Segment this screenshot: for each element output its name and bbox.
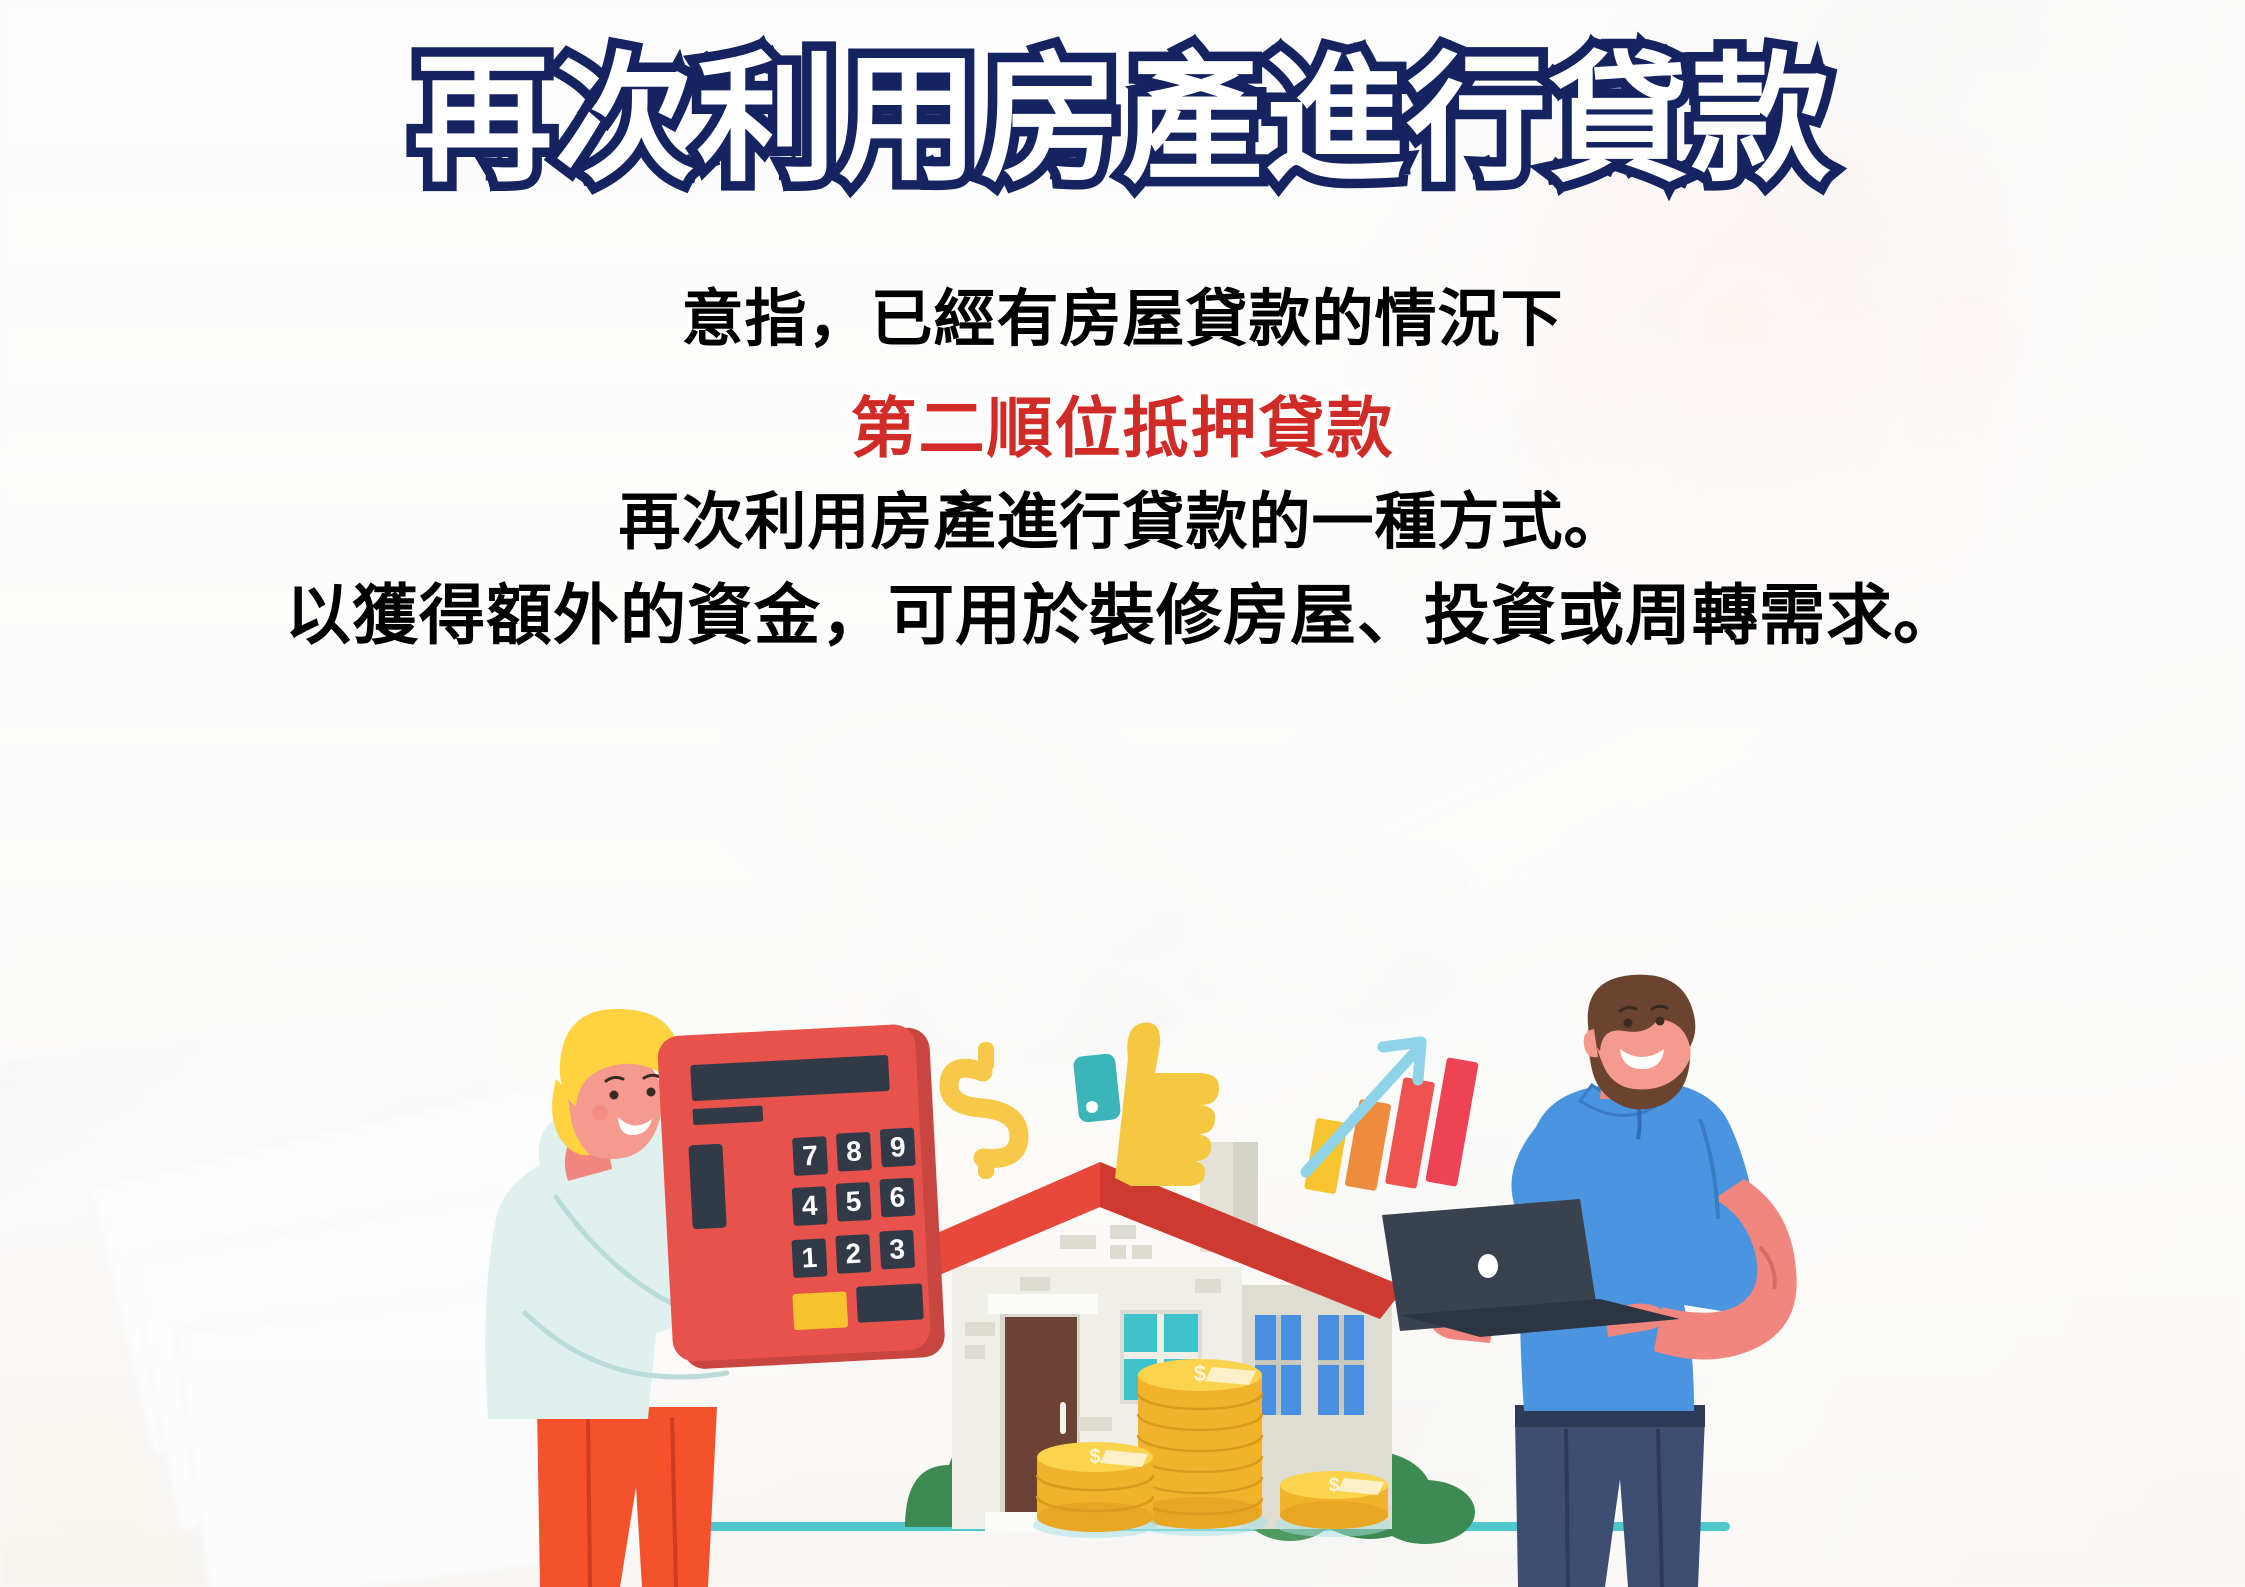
svg-text:$: $ (1089, 1446, 1100, 1468)
poster-title-container: 再次利用房產進行貸款 (0, 46, 2245, 193)
calculator-key-enter[interactable] (856, 1283, 924, 1322)
laptop-logo (1478, 1254, 1498, 1278)
calculator-key-8[interactable]: 8 (836, 1132, 872, 1172)
coin-single: $ (1275, 1471, 1391, 1537)
calculator: 7 8 9 4 5 6 (657, 1023, 946, 1371)
house-lintel (988, 1294, 1098, 1314)
house-door-handle (1060, 1402, 1066, 1434)
svg-text:4: 4 (801, 1190, 819, 1222)
page-title: 再次利用房產進行貸款 (412, 46, 1832, 193)
calculator-key-yellow[interactable] (792, 1291, 848, 1330)
poster-body-container: 意指，已經有房屋貸款的情況下 第二順位抵押貸款 再次利用房產進行貸款的一種方式。… (0, 280, 2245, 657)
calculator-key-1[interactable]: 1 (792, 1238, 828, 1278)
calculator-key-2[interactable]: 2 (835, 1234, 871, 1274)
svg-text:$: $ (1194, 1361, 1206, 1386)
calculator-key-5[interactable]: 5 (836, 1182, 872, 1222)
thumbs-up-icon (1073, 1022, 1220, 1186)
calculator-key-7[interactable]: 7 (792, 1136, 828, 1176)
svg-text:9: 9 (889, 1131, 906, 1163)
highlight-container: 第二順位抵押貸款 (0, 375, 2245, 471)
svg-text:2: 2 (845, 1238, 862, 1270)
svg-text:6: 6 (889, 1181, 906, 1213)
svg-text:7: 7 (802, 1140, 819, 1172)
calculator-key-9[interactable]: 9 (880, 1128, 916, 1168)
woman-pants (537, 1407, 717, 1587)
svg-text:3: 3 (889, 1233, 906, 1265)
calculator-keypad: 7 8 9 4 5 6 (786, 1128, 921, 1279)
house-window-side-2 (1318, 1315, 1364, 1415)
thumbs-up-cuff (1073, 1053, 1122, 1123)
svg-text:5: 5 (845, 1185, 862, 1217)
calculator-key-3[interactable]: 3 (879, 1230, 915, 1270)
illustration-scene: $ $ $ (0, 967, 2245, 1587)
dollar-sign-icon (949, 1042, 1019, 1179)
highlight-text: 第二順位抵押貸款 (851, 375, 1395, 471)
man-pants (1515, 1417, 1705, 1587)
body-line-3: 再次利用房產進行貸款的一種方式。 (0, 483, 2245, 562)
coin-stack-mid: $ (1033, 1442, 1157, 1538)
svg-text:$: $ (1329, 1475, 1340, 1496)
bar-chart-growth-icon (1304, 1042, 1479, 1194)
calculator-key-column (688, 1144, 726, 1230)
svg-text:1: 1 (801, 1242, 818, 1274)
calculator-key-6[interactable]: 6 (879, 1178, 915, 1218)
body-line-1: 意指，已經有房屋貸款的情況下 (0, 280, 2245, 359)
calculator-key-4[interactable]: 4 (792, 1186, 828, 1226)
body-line-4: 以獲得額外的資金，可用於裝修房屋、投資或周轉需求。 (0, 573, 2245, 657)
svg-text:8: 8 (845, 1135, 862, 1167)
